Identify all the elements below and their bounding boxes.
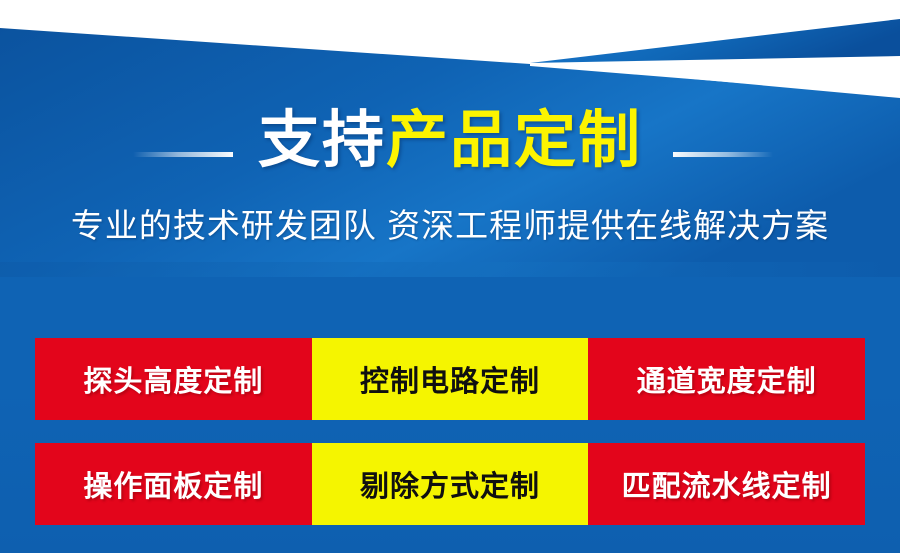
- feature-cell-channel-width[interactable]: 通道宽度定制: [588, 338, 865, 420]
- feature-cell-production-line-match[interactable]: 匹配流水线定制: [588, 443, 865, 525]
- hero-title-white: 支持: [258, 106, 386, 175]
- hero-title-yellow: 产品定制: [386, 106, 642, 175]
- feature-row: 探头高度定制 控制电路定制 通道宽度定制: [35, 338, 865, 420]
- feature-cell-control-circuit[interactable]: 控制电路定制: [312, 338, 589, 420]
- feature-cell-rejection-method[interactable]: 剔除方式定制: [312, 443, 589, 525]
- feature-row: 操作面板定制 剔除方式定制 匹配流水线定制: [35, 443, 865, 525]
- hero-title-block: 支持产品定制: [0, 100, 900, 200]
- hero-section: 支持产品定制 专业的技术研发团队 资深工程师提供在线解决方案: [0, 0, 900, 277]
- promo-banner: 支持产品定制 专业的技术研发团队 资深工程师提供在线解决方案 探头高度定制 控制…: [0, 0, 900, 553]
- title-divider-left-icon: [133, 152, 233, 157]
- hero-title: 支持产品定制: [258, 100, 642, 182]
- feature-grid: 探头高度定制 控制电路定制 通道宽度定制 操作面板定制 剔除方式定制 匹配流水线…: [35, 338, 865, 525]
- feature-cell-control-panel[interactable]: 操作面板定制: [35, 443, 312, 525]
- feature-cell-probe-height[interactable]: 探头高度定制: [35, 338, 312, 420]
- features-section: 探头高度定制 控制电路定制 通道宽度定制 操作面板定制 剔除方式定制 匹配流水线…: [0, 277, 900, 553]
- hero-subtitle: 专业的技术研发团队 资深工程师提供在线解决方案: [0, 205, 900, 247]
- title-divider-right-icon: [673, 152, 773, 157]
